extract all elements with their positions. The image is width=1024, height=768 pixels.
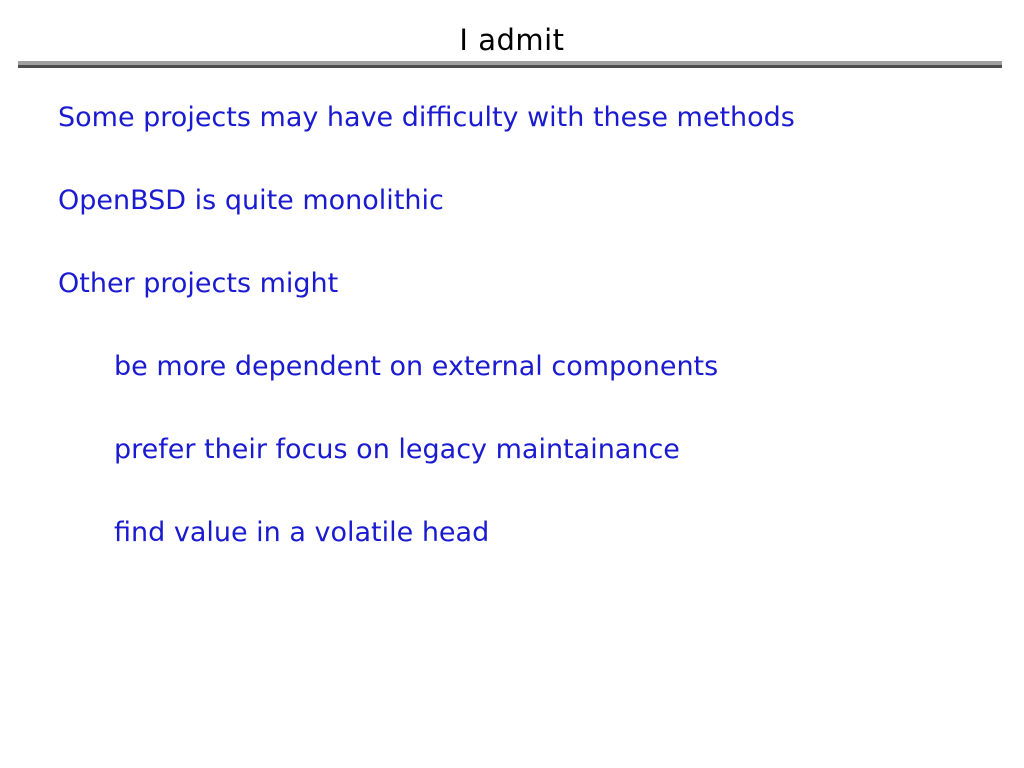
- sub-bullet-item: prefer their focus on legacy maintainanc…: [114, 436, 1024, 519]
- slide-canvas: I admit Some projects may have difficult…: [0, 0, 1024, 768]
- sub-bullet-item: find value in a volatile head: [114, 519, 1024, 602]
- bullet-item: Other projects might: [58, 270, 1024, 353]
- bullet-item: Some projects may have difficulty with t…: [58, 104, 1024, 187]
- sub-bullet-item: be more dependent on external components: [114, 353, 1024, 436]
- bullet-item: OpenBSD is quite monolithic: [58, 187, 1024, 270]
- slide-title: I admit: [0, 26, 1024, 55]
- divider-band-dark: [18, 65, 1002, 68]
- slide-body: Some projects may have difficulty with t…: [0, 104, 1024, 602]
- title-divider: [18, 61, 1002, 68]
